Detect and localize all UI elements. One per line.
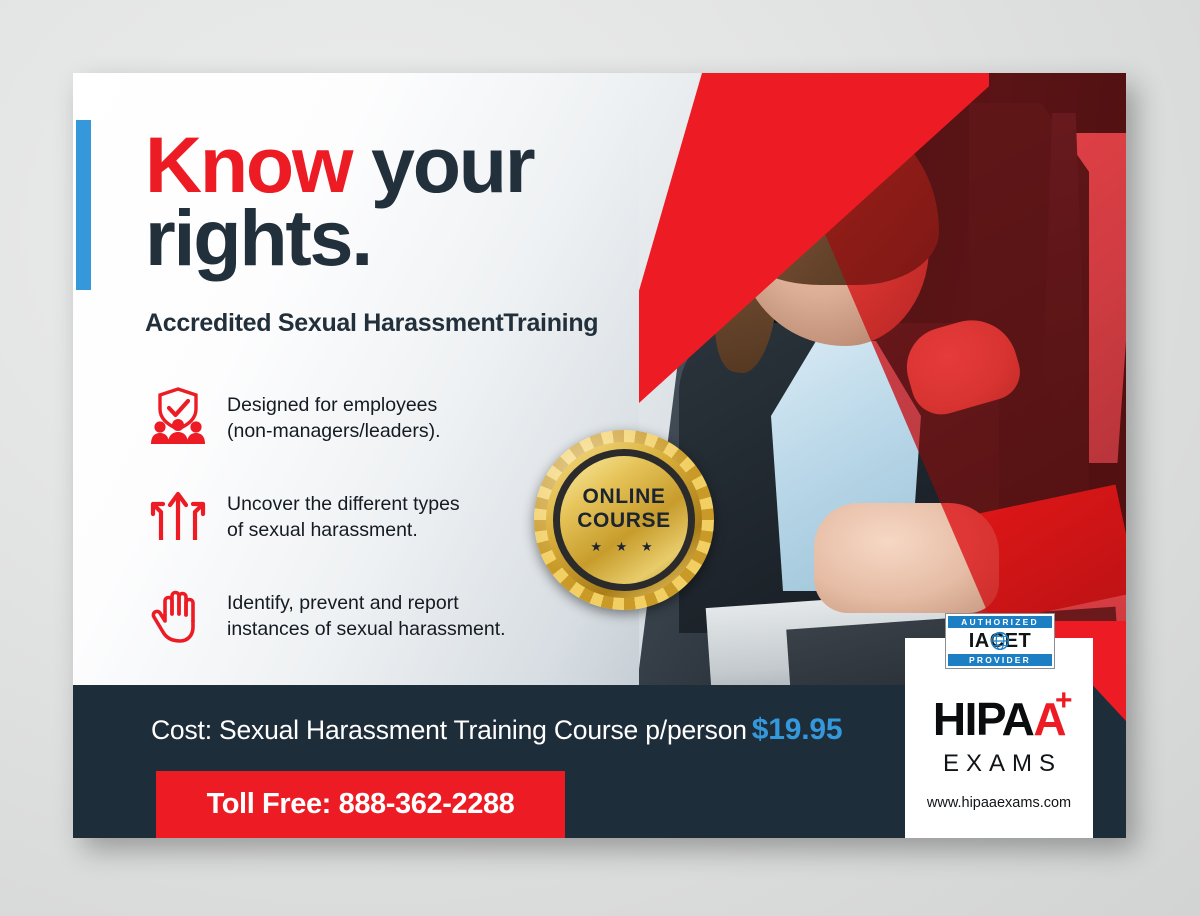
feature-line-1: Identify, prevent and report <box>227 592 459 614</box>
cost-line: Cost: Sexual Harassment Training Course … <box>151 713 842 747</box>
iacet-authorized-label: AUTHORIZED <box>948 616 1052 628</box>
price-value: $19.95 <box>752 713 843 746</box>
feature-line-1: Designed for employees <box>227 394 437 416</box>
iacet-provider-label: PROVIDER <box>948 654 1052 666</box>
blue-accent-bar <box>76 120 91 290</box>
brand-website-url[interactable]: www.hipaaexams.com <box>905 795 1093 811</box>
toll-free-callout[interactable]: Toll Free: 888-362-2288 <box>156 771 565 838</box>
subtitle: Accredited Sexual HarassmentTraining <box>145 309 598 338</box>
flyer-card: Know your rights. Accredited Sexual Hara… <box>73 73 1126 838</box>
iacet-accreditation-badge: AUTHORIZED IACET PROVIDER <box>945 613 1055 669</box>
seal-face: ONLINE COURSE ★ ★ ★ <box>560 456 688 584</box>
globe-icon <box>990 631 1010 651</box>
feature-line-1: Uncover the different types <box>227 493 460 515</box>
online-course-seal: ONLINE COURSE ★ ★ ★ <box>534 430 714 610</box>
list-item-text: Identify, prevent and report instances o… <box>211 583 506 643</box>
three-arrows-up-icon <box>145 484 211 544</box>
cost-label: Cost: Sexual Harassment Training Course … <box>151 715 747 745</box>
toll-free-text: Toll Free: 888-362-2288 <box>207 788 515 821</box>
feature-line-2: of sexual harassment. <box>227 519 418 541</box>
seal-text-course: COURSE <box>577 509 670 533</box>
brand-subtitle: EXAMS <box>905 750 1093 778</box>
list-item-text: Designed for employees (non-managers/lea… <box>211 385 441 445</box>
headline-line-two: rights. <box>145 193 371 282</box>
shield-check-people-icon <box>145 385 211 445</box>
brand-name-main: HIPA <box>933 693 1034 745</box>
seal-stars-icon: ★ ★ ★ <box>590 539 657 555</box>
iacet-wordmark: IACET <box>948 629 1052 653</box>
feature-line-2: (non-managers/leaders). <box>227 420 441 442</box>
feature-line-2: instances of sexual harassment. <box>227 618 506 640</box>
brand-plus-icon: + <box>1055 686 1073 716</box>
seal-text-online: ONLINE <box>583 485 666 509</box>
page-title: Know your rights. <box>145 129 685 274</box>
list-item-text: Uncover the different types of sexual ha… <box>211 484 460 544</box>
headline-word-your: your <box>351 120 533 209</box>
stop-hand-icon <box>145 583 211 643</box>
